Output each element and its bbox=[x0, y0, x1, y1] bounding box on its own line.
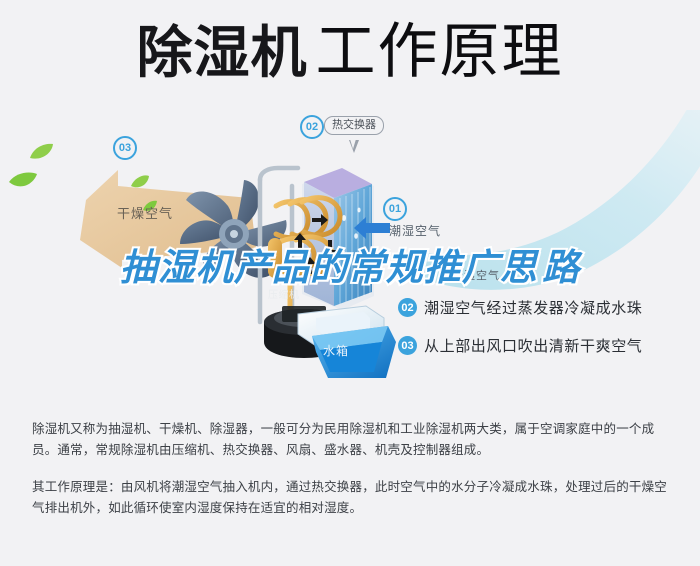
body-paragraph-1: 除湿机又称为抽湿机、干燥机、除湿器，一般可分为民用除湿机和工业除湿机两大类，属于… bbox=[32, 418, 672, 460]
body-paragraph-2: 其工作原理是：由风机将潮湿空气抽入机内，通过热交换器，此时空气中的水分子冷凝成水… bbox=[32, 476, 672, 518]
diagram-marker-03: 03 bbox=[113, 136, 137, 160]
humid-airflow-swoosh bbox=[380, 110, 700, 320]
leaf-icon bbox=[130, 174, 150, 190]
label-compressor: 压缩机 bbox=[268, 286, 300, 301]
infographic-page: 除湿机工作原理 bbox=[0, 0, 700, 566]
label-humid-air: 潮湿空气 bbox=[389, 222, 441, 239]
legend-text-02: 潮湿空气经过蒸发器冷凝成水珠 bbox=[424, 297, 642, 318]
callout-tail-inner bbox=[350, 139, 356, 149]
heat-exchanger-callout: 热交换器 bbox=[324, 116, 384, 135]
legend-marker-02: 02 bbox=[398, 298, 417, 317]
legend-item-02: 02 潮湿空气经过蒸发器冷凝成水珠 bbox=[398, 297, 688, 318]
legend-marker-03: 03 bbox=[398, 336, 417, 355]
leaf-icon bbox=[28, 142, 54, 162]
diagram-marker-01: 01 bbox=[383, 197, 407, 221]
label-water-tank: 水箱 bbox=[323, 342, 349, 359]
label-dry-air: 干燥空气 bbox=[117, 203, 173, 222]
title-part-1: 除湿机 bbox=[137, 21, 308, 86]
title-part-2: 工作原理 bbox=[316, 17, 564, 87]
label-humid-air-secondary: 潮湿空气 bbox=[452, 267, 500, 283]
legend-text-03: 从上部出风口吹出清新干爽空气 bbox=[424, 335, 642, 356]
legend-list: 01 潮湿空气 02 潮湿空气经过蒸发器冷凝成水珠 03 从上部出风口吹出清新干… bbox=[398, 297, 688, 373]
diagram-marker-02: 02 bbox=[300, 115, 324, 139]
intake-arrow-icon bbox=[352, 216, 392, 240]
leaf-icon bbox=[8, 170, 38, 192]
legend-item-03: 03 从上部出风口吹出清新干爽空气 bbox=[398, 335, 688, 356]
page-title: 除湿机工作原理 bbox=[0, 22, 700, 82]
body-copy: 除湿机又称为抽湿机、干燥机、除湿器，一般可分为民用除湿机和工业除湿机两大类，属于… bbox=[32, 418, 672, 534]
